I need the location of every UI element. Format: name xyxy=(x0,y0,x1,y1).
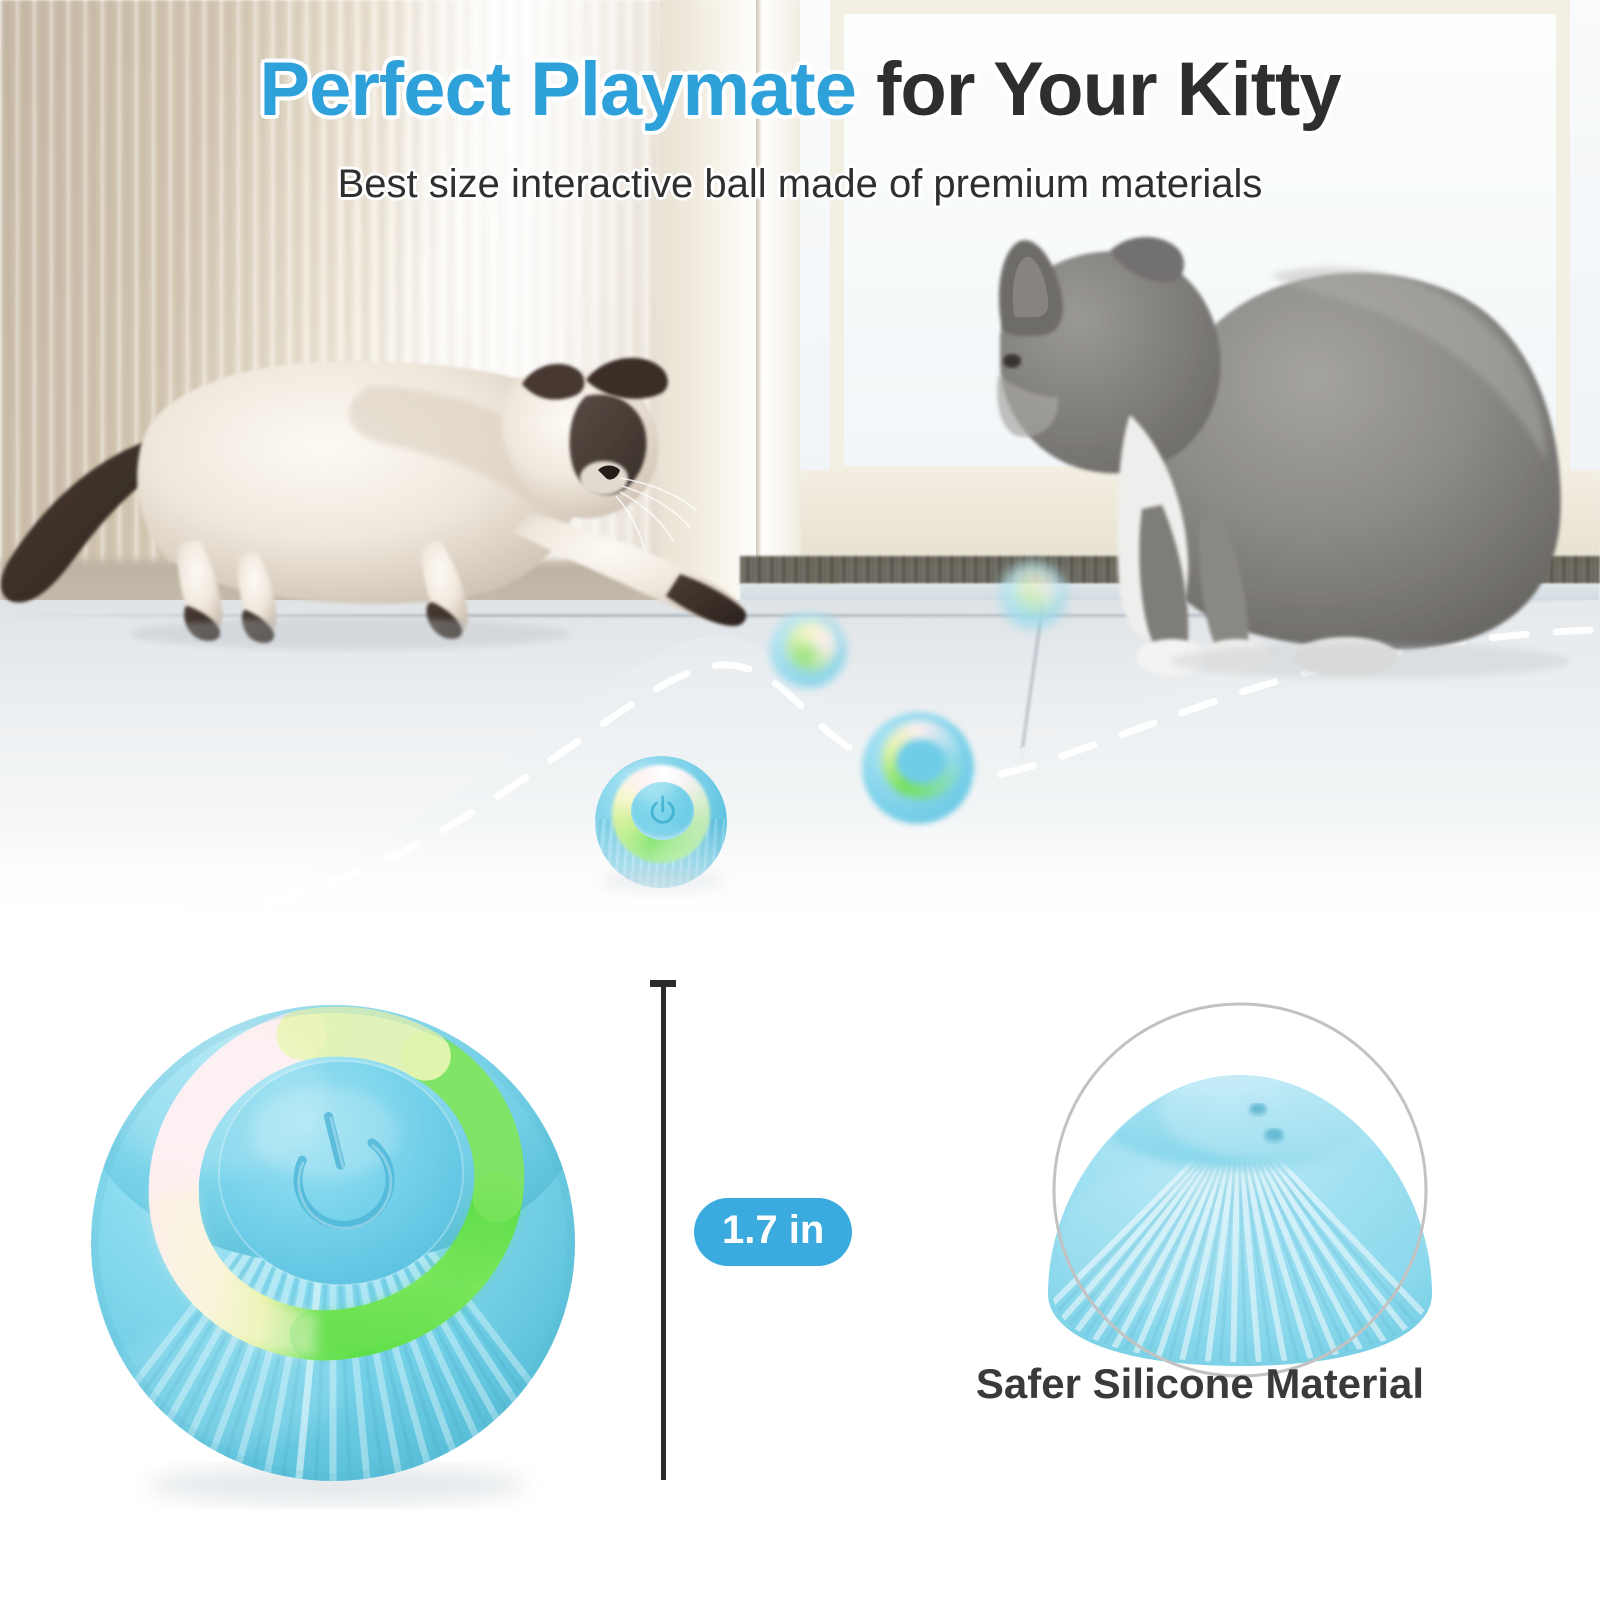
silicone-detail-closeup xyxy=(1030,990,1450,1390)
cat-siamese-reaching xyxy=(0,330,780,660)
ball-scene-far-3 xyxy=(770,612,846,688)
page-subheadline: Best size interactive ball made of premi… xyxy=(0,162,1600,207)
material-caption: Safer Silicone Material xyxy=(880,1360,1520,1408)
photo-bottom-fade xyxy=(0,820,1600,950)
product-detail-panel: 1.7 in xyxy=(0,950,1600,1600)
size-dimension-line xyxy=(650,980,676,1480)
headline-rest: for Your Kitty xyxy=(856,47,1341,132)
hero-product-ball xyxy=(75,985,595,1515)
dimension-shaft xyxy=(661,980,666,1480)
size-badge: 1.7 in xyxy=(694,1198,852,1266)
page-headline: Perfect Playmate for Your Kitty xyxy=(0,52,1600,128)
ball-scene-mid-2 xyxy=(862,712,974,824)
hero-ball-svg xyxy=(75,985,595,1515)
headline-highlight: Perfect Playmate xyxy=(259,47,856,132)
product-marketing-page: Perfect Playmate for Your Kitty Best siz… xyxy=(0,0,1600,1600)
detail-svg xyxy=(1030,990,1450,1390)
ball-scene-distant-4 xyxy=(1000,562,1066,628)
lifestyle-photo-scene xyxy=(0,0,1600,950)
